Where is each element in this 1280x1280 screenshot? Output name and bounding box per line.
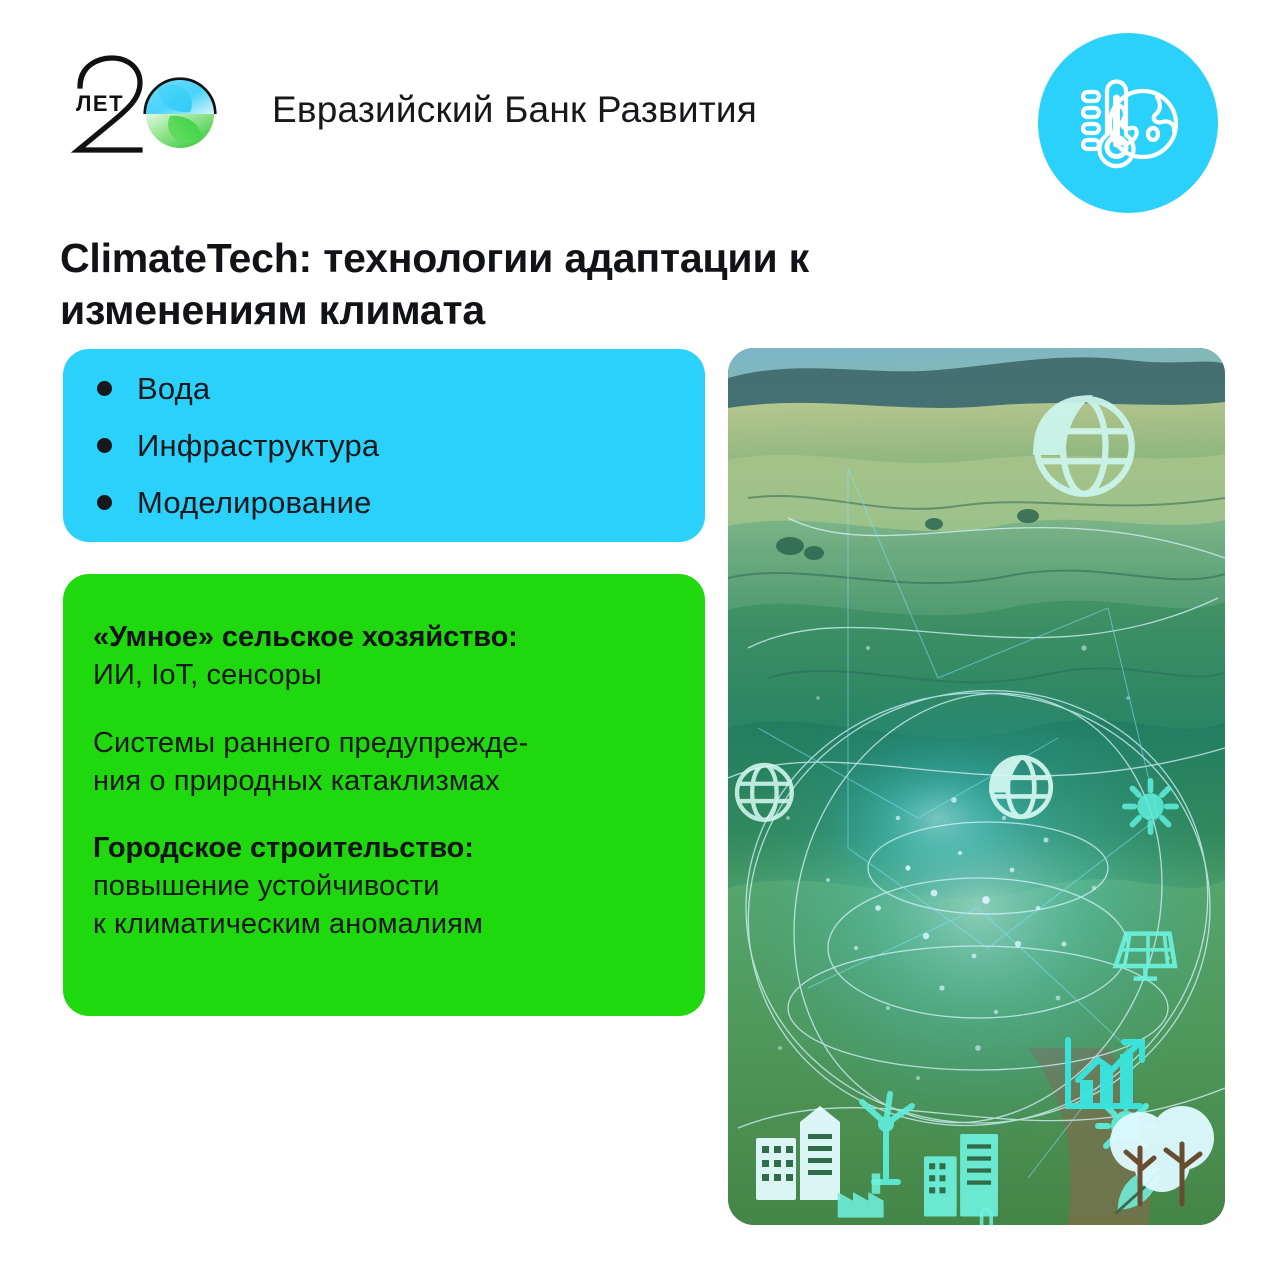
solution-heading: Городское строительство: [93, 831, 671, 867]
page-title: ClimateTech: технологии адаптации к изме… [60, 232, 940, 337]
solution-body: ИИ, IoT, сенсоры [93, 656, 671, 694]
brand-header: ЛЕТ Евразийский Банк Развития [62, 52, 757, 167]
climate-badge [1038, 33, 1218, 213]
solution-block-smart-agriculture: «Умное» сельское хозяйство: ИИ, IoT, сен… [93, 620, 671, 694]
topics-card: Вода Инфраструктура Моделирование [63, 349, 705, 542]
list-item: Вода [97, 373, 675, 404]
svg-text:ЛЕТ: ЛЕТ [76, 91, 124, 116]
eabr-sphere-logo-icon: ЛЕТ [62, 52, 234, 167]
eabr-logo: ЛЕТ [62, 52, 234, 167]
bullet-dot-icon [97, 381, 112, 396]
landscape-network-illustration [728, 348, 1225, 1225]
thermometer-globe-icon [1069, 64, 1187, 182]
solution-block-urban-construction: Городское строительство: повышение устой… [93, 831, 671, 943]
topic-label: Инфраструктура [137, 430, 379, 461]
brand-name: Евразийский Банк Развития [272, 91, 757, 128]
solution-heading: «Умное» сельское хозяйство: [93, 620, 671, 656]
bullet-dot-icon [97, 495, 112, 510]
topic-label: Моделирование [137, 487, 372, 518]
solution-body: Системы раннего предупрежде- ния о приро… [93, 724, 671, 801]
list-item: Инфраструктура [97, 430, 675, 461]
solution-block-early-warning: Системы раннего предупрежде- ния о приро… [93, 724, 671, 801]
climate-photo [728, 348, 1225, 1225]
list-item: Моделирование [97, 487, 675, 518]
solutions-card: «Умное» сельское хозяйство: ИИ, IoT, сен… [63, 574, 705, 1016]
bullet-dot-icon [97, 438, 112, 453]
topic-label: Вода [137, 373, 210, 404]
sun-icon [1125, 781, 1176, 832]
solution-body: повышение устойчивости к климатическим а… [93, 867, 671, 944]
slide-root: ЛЕТ Евразийский Банк Развития [0, 0, 1280, 1280]
